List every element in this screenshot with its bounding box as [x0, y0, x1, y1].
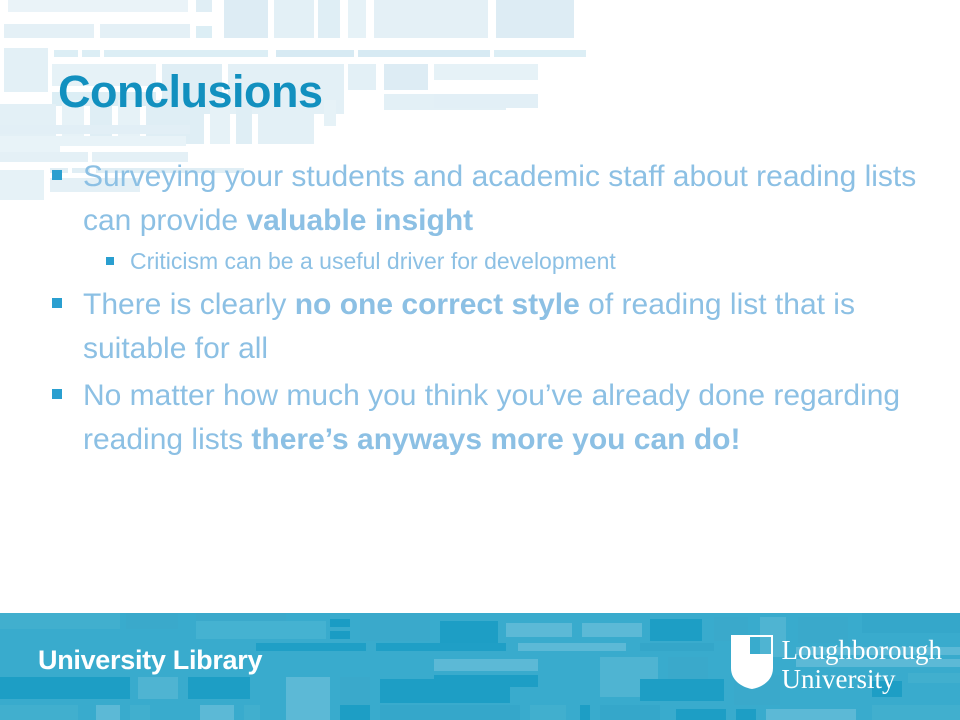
bullet-text: No matter how much you think you’ve alre…	[83, 374, 930, 462]
footer-label: University Library	[38, 645, 262, 676]
footer-decor-block	[766, 709, 856, 720]
decor-block	[82, 50, 100, 57]
bullet-text-plain: Surveying your students and academic sta…	[83, 160, 916, 237]
decor-block	[318, 0, 340, 38]
footer-decor-block	[600, 705, 660, 720]
footer-decor-block	[676, 709, 726, 720]
square-bullet-icon	[52, 170, 62, 180]
bullet-text-plain: Criticism can be a useful driver for dev…	[130, 248, 616, 274]
bullet-item: No matter how much you think you’ve alre…	[52, 374, 930, 462]
footer-decor-block	[330, 619, 350, 627]
decor-block	[434, 94, 538, 108]
slide-canvas: Conclusions Surveying your students and …	[0, 0, 960, 720]
footer-decor-block	[0, 677, 130, 699]
square-bullet-icon	[52, 298, 62, 308]
decor-block	[358, 50, 490, 57]
footer-decor-block	[580, 705, 590, 720]
decor-block	[496, 0, 574, 38]
decor-block	[0, 125, 190, 134]
decor-block	[274, 0, 314, 38]
decor-block	[276, 50, 354, 57]
footer-decor-block	[138, 677, 178, 699]
bullet-text-emphasis: there’s anyways more you can do!	[251, 423, 740, 456]
footer-decor-block	[244, 705, 260, 720]
decor-block	[4, 48, 48, 92]
footer-decor-block	[200, 705, 234, 720]
decor-block	[384, 94, 506, 110]
bullet-text: Criticism can be a useful driver for dev…	[130, 245, 930, 277]
footer-decor-block	[0, 613, 120, 629]
logo-wordmark: Loughborough University	[782, 636, 942, 693]
decor-block	[434, 64, 538, 80]
footer-decor-block	[434, 659, 538, 671]
decor-block	[348, 0, 366, 38]
decor-block	[0, 136, 186, 146]
decor-block	[324, 100, 336, 126]
footer-decor-block	[130, 705, 150, 720]
logo-line-1: Loughborough	[782, 636, 942, 664]
decor-block	[348, 64, 376, 90]
footer-decor-block	[340, 705, 370, 720]
footer-decor-block	[0, 705, 78, 720]
loughborough-university-logo: Loughborough University	[731, 635, 942, 694]
decor-block	[4, 24, 94, 38]
bullet-text-plain: There is clearly	[83, 288, 295, 321]
logo-line-2: University	[782, 665, 942, 693]
footer-decor-block	[668, 657, 708, 679]
decor-block	[224, 0, 268, 38]
footer-decor-block	[126, 613, 178, 629]
footer-decor-block	[330, 631, 350, 639]
footer-decor-block	[440, 621, 498, 643]
footer-decor-block	[582, 623, 642, 637]
bullet-text-emphasis: valuable insight	[246, 204, 473, 237]
footer-decor-block	[640, 679, 724, 701]
bullet-item: There is clearly no one correct style of…	[52, 283, 930, 371]
footer-decor-block	[380, 679, 510, 703]
footer-decor-block	[376, 643, 506, 651]
footer-decor-block	[736, 709, 756, 720]
bullet-text-emphasis: no one correct style	[295, 288, 580, 321]
decor-block	[196, 0, 212, 12]
bullet-item: Criticism can be a useful driver for dev…	[106, 245, 930, 277]
footer-decor-block	[96, 705, 120, 720]
footer-band: University Library Loughborough Universi…	[0, 613, 960, 720]
decor-block	[384, 64, 428, 90]
decor-block	[8, 0, 188, 12]
loughborough-shield-icon	[731, 635, 773, 694]
footer-decor-block	[286, 677, 330, 720]
decor-block	[104, 50, 268, 57]
footer-decor-block	[640, 643, 714, 651]
decor-block	[0, 146, 60, 158]
bullet-text: There is clearly no one correct style of…	[83, 283, 930, 371]
footer-decor-block	[872, 705, 960, 720]
footer-decor-block	[518, 643, 626, 651]
footer-decor-block	[506, 623, 572, 637]
bullet-list: Surveying your students and academic sta…	[52, 155, 930, 464]
footer-decor-block	[380, 705, 520, 720]
footer-decor-block	[650, 619, 702, 641]
decor-block	[494, 50, 586, 57]
footer-decor-block	[256, 643, 366, 651]
decor-block	[0, 104, 56, 140]
bullet-text: Surveying your students and academic sta…	[83, 155, 930, 243]
decor-block	[196, 26, 212, 38]
decor-block	[100, 24, 190, 38]
title-container: Conclusions	[58, 68, 323, 115]
decor-block	[54, 50, 78, 57]
decor-block	[0, 170, 44, 200]
footer-decor-block	[196, 613, 286, 621]
decor-block	[374, 0, 488, 38]
footer-decor-block	[360, 613, 430, 641]
bullet-item: Surveying your students and academic sta…	[52, 155, 930, 243]
footer-decor-block	[196, 621, 326, 639]
footer-decor-block	[862, 613, 960, 633]
square-bullet-icon	[106, 257, 114, 265]
square-bullet-icon	[52, 389, 62, 399]
page-title: Conclusions	[58, 68, 323, 115]
footer-decor-block	[188, 677, 250, 699]
footer-decor-block	[530, 705, 566, 720]
